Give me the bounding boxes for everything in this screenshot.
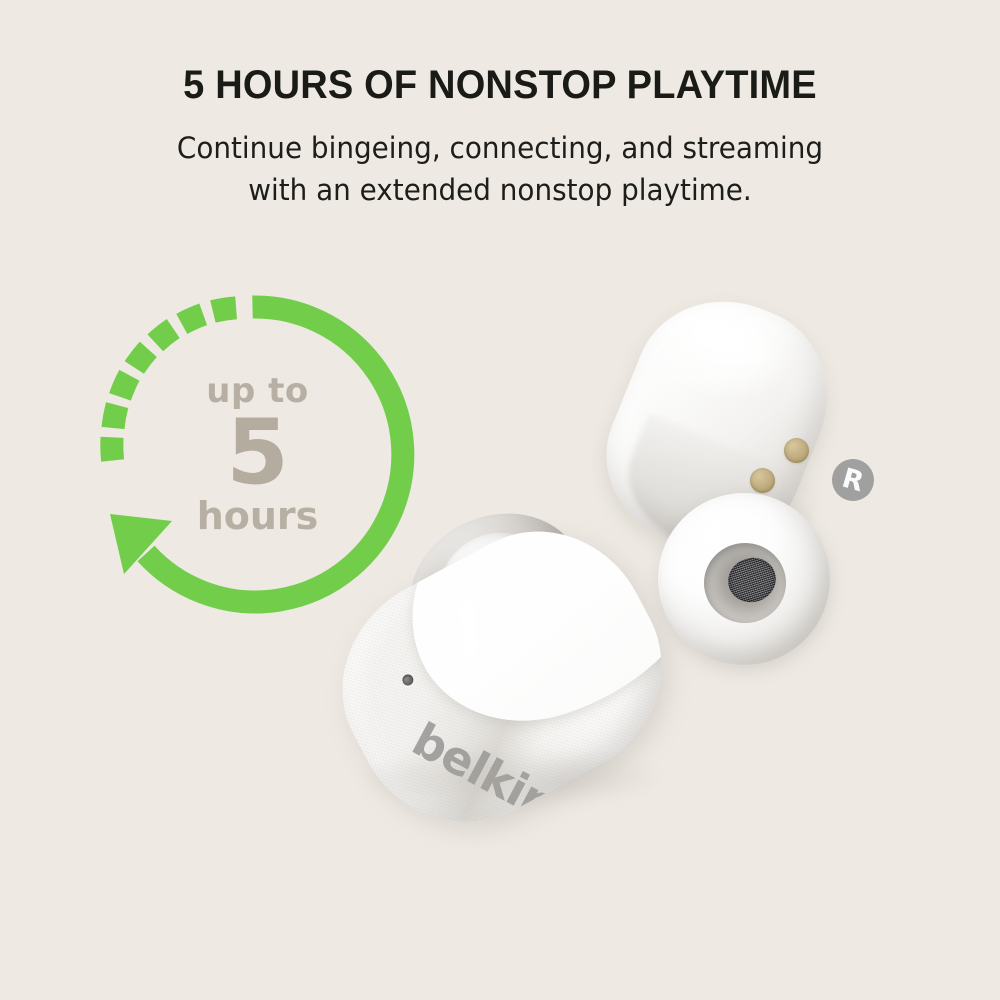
subtitle-line-2: with an extended nonstop playtime.: [20, 169, 980, 211]
charging-contact-icon: [784, 438, 809, 463]
right-channel-badge: R: [827, 454, 879, 506]
left-earbud-image: belkin: [330, 500, 730, 920]
left-earbud-body: belkin: [305, 494, 700, 860]
charging-contact-icon: [750, 468, 775, 493]
subtitle-line-1: Continue bingeing, connecting, and strea…: [20, 127, 980, 169]
drop-shadow: [366, 752, 656, 804]
product-feature-banner: 5 HOURS OF NONSTOP PLAYTIME Continue bin…: [0, 0, 1000, 1000]
subtitle: Continue bingeing, connecting, and strea…: [20, 127, 980, 211]
page-title: 5 HOURS OF NONSTOP PLAYTIME: [25, 63, 975, 108]
speaker-mesh-grille: [722, 552, 781, 609]
